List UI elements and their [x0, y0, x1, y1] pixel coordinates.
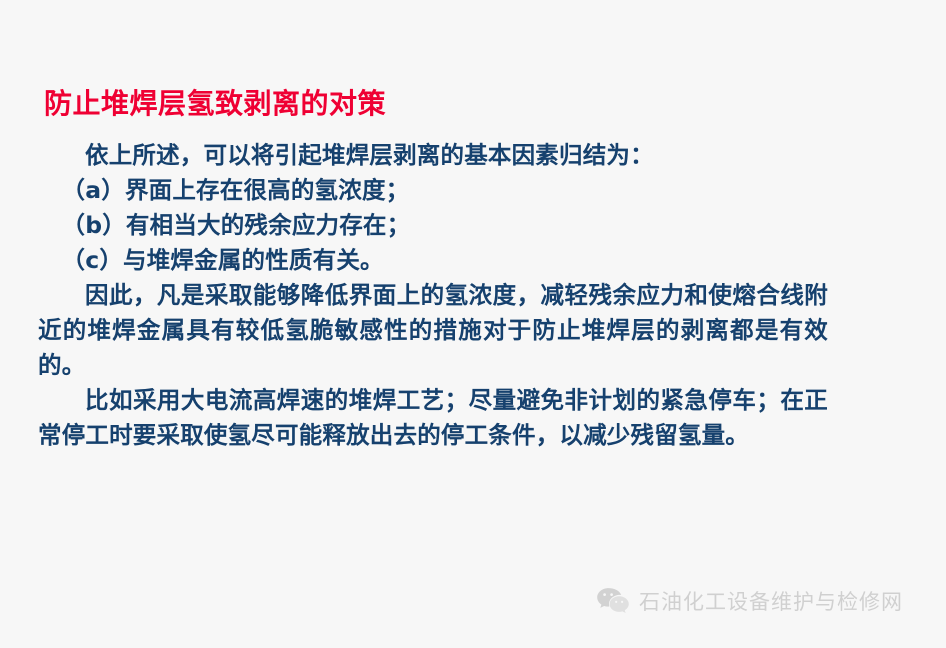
paragraph-measures: 比如采用大电流高焊速的堆焊工艺；尽量避免非计划的紧急停车；在正常停工时要采取使氢… [38, 383, 828, 453]
paragraph-conclusion: 因此，凡是采取能够降低界面上的氢浓度，减轻残余应力和使熔合线附近的堆焊金属具有较… [38, 278, 828, 383]
wechat-icon [596, 587, 630, 615]
list-item-a: （a）界面上存在很高的氢浓度； [38, 173, 828, 208]
slide-canvas: 防止堆焊层氢致剥离的对策 依上所述，可以将引起堆焊层剥离的基本因素归结为： （a… [0, 0, 946, 648]
list-item-c: （c）与堆焊金属的性质有关。 [38, 243, 828, 278]
paragraph-intro: 依上所述，可以将引起堆焊层剥离的基本因素归结为： [38, 138, 828, 173]
watermark-label: 石油化工设备维护与检修网 [639, 586, 903, 616]
wechat-watermark: 石油化工设备维护与检修网 [596, 586, 903, 616]
slide-body: 依上所述，可以将引起堆焊层剥离的基本因素归结为： （a）界面上存在很高的氢浓度；… [38, 138, 828, 453]
page-title: 防止堆焊层氢致剥离的对策 [44, 87, 386, 121]
list-item-b: （b）有相当大的残余应力存在； [38, 208, 828, 243]
